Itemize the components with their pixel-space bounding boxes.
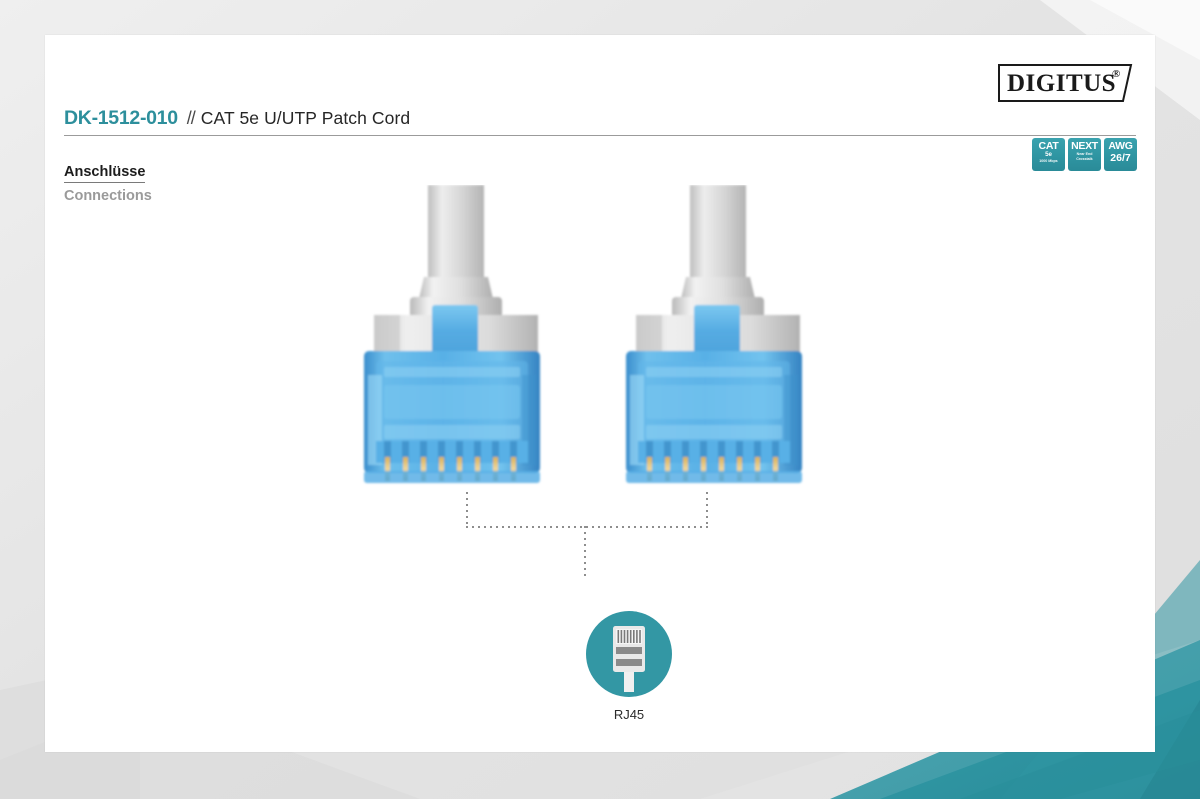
badge-awg: AWG 26/7: [1104, 138, 1137, 171]
rj45-plug-left: [364, 185, 540, 483]
badge-next-main: NEXT: [1071, 141, 1098, 151]
logo-wordmark: DIGITUS: [1007, 70, 1116, 97]
section-heading-de: Anschlüsse: [64, 164, 145, 183]
digitus-logo: DIGITUS ®: [995, 59, 1135, 105]
rj45-callout-label: RJ45: [586, 707, 672, 722]
product-image-area: [45, 185, 1155, 585]
rj45-plug-right: [626, 185, 802, 483]
spec-badges: CAT 5e 1000 Mbps NEXT Near End Crosstalk…: [1032, 138, 1137, 171]
badge-awg-sub: 26/7: [1110, 152, 1130, 164]
badge-next: NEXT Near End Crosstalk: [1068, 138, 1101, 171]
rj45-icon-circle: [586, 611, 672, 697]
badge-awg-main: AWG: [1108, 141, 1132, 151]
product-title-row: DK-1512-010//CAT 5e U/UTP Patch Cord: [64, 107, 1136, 136]
dotted-line-horizontal: [466, 526, 708, 528]
rj45-plugs-illustration: [340, 185, 860, 535]
badge-next-sub: Near End: [1077, 152, 1093, 156]
product-sku: DK-1512-010: [64, 107, 178, 129]
badge-cat5e: CAT 5e 1000 Mbps: [1032, 138, 1065, 171]
page-root: DIGITUS ® DK-1512-010//CAT 5e U/UTP Patc…: [0, 0, 1200, 799]
product-description: CAT 5e U/UTP Patch Cord: [201, 108, 410, 128]
logo-registered-mark: ®: [1112, 68, 1121, 80]
badge-cat5e-sub: 5e: [1045, 152, 1052, 158]
badge-cat5e-main: CAT: [1039, 141, 1059, 151]
badge-next-sub2: Crosstalk: [1076, 157, 1092, 161]
dotted-line-right-vertical: [706, 492, 708, 528]
rj45-callout: RJ45: [586, 611, 672, 722]
dotted-line-left-vertical: [466, 492, 468, 528]
title-separator: //: [187, 108, 195, 128]
badge-cat5e-sub2: 1000 Mbps: [1039, 159, 1057, 163]
rj45-connector-icon: [586, 611, 672, 697]
dotted-line-center-drop: [584, 526, 586, 576]
content-card: DIGITUS ® DK-1512-010//CAT 5e U/UTP Patc…: [45, 35, 1155, 752]
logo-mark: DIGITUS ®: [995, 59, 1135, 105]
